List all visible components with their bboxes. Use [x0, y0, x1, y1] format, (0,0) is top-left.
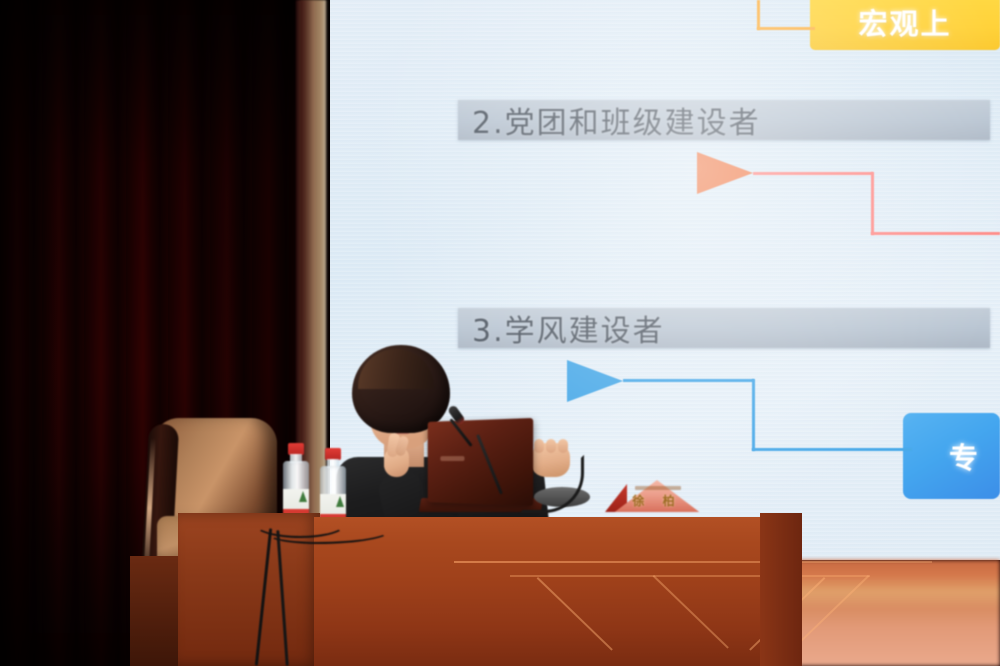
slide-callout-blue: 专: [903, 413, 1000, 499]
laptop-lid: [428, 418, 533, 506]
desk-right-panel: [760, 513, 802, 666]
slide-banner-item-2-label: 2.党团和班级建设者: [458, 98, 761, 142]
slide-callout-yellow-label: 宏观上: [858, 1, 951, 43]
slide-callout-yellow: 宏观上: [810, 0, 1000, 50]
desk-groove-line: [454, 561, 932, 563]
connector-blue-segment-2: [752, 379, 755, 451]
desk-top-lip: [450, 529, 936, 539]
connector-blue-segment-3: [752, 448, 912, 451]
photo-scene: 2.党团和班级建设者 3.学风建设者 宏观上 专: [0, 0, 1000, 666]
speaker-right-knuckle-1: [534, 439, 544, 453]
slide-banner-item-3-label: 3.学风建设者: [458, 306, 665, 350]
connector-orange-segment-v: [757, 0, 760, 30]
connector-blue-segment-1: [623, 379, 754, 382]
nameplate-header-line: [635, 486, 681, 490]
slide-banner-item-3: 3.学风建设者: [458, 308, 990, 348]
laptop-logo: [440, 456, 464, 461]
pine-tree-icon: [299, 491, 307, 502]
connector-pink-segment-2: [871, 172, 874, 235]
slide-banner-item-2: 2.党团和班级建设者: [458, 100, 990, 140]
desk-front-panel: [314, 517, 800, 666]
connector-pink-segment-1: [753, 172, 873, 175]
speaker-right-knuckle-2: [546, 439, 556, 453]
speaker-left-hand: [382, 433, 412, 479]
connector-pink-segment-3: [871, 232, 1000, 235]
slide-callout-blue-label: 专: [923, 435, 980, 477]
arrow-right-orange-icon: [697, 152, 753, 194]
connector-orange-segment-h: [757, 27, 815, 30]
speaker-right-knuckle-3: [558, 439, 568, 453]
